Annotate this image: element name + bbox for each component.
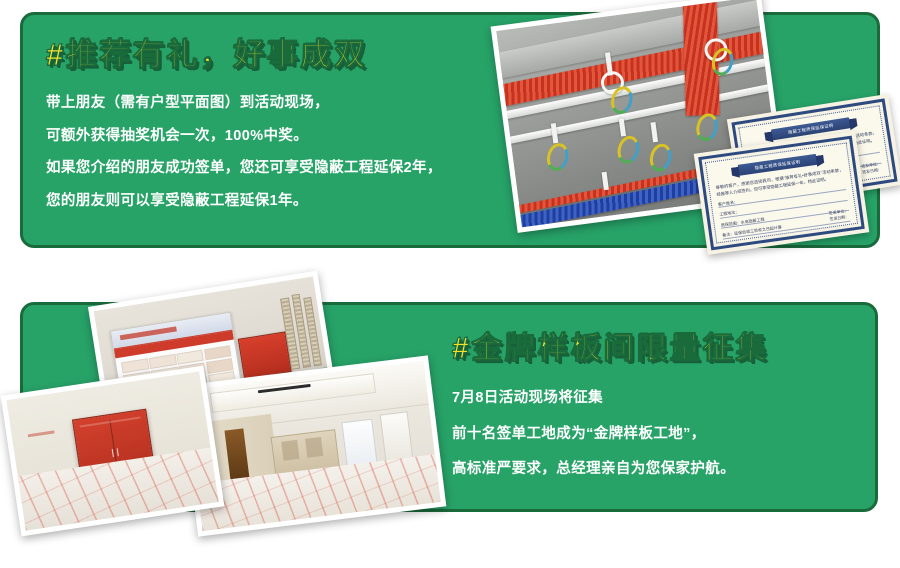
ceiling-recess (210, 373, 376, 413)
model-site-text-block: #金牌样板间限量征集 7月8日活动现场将征集 前十名签单工地成为“金牌样板工地”… (452, 332, 872, 477)
cabinet-handle-right (116, 448, 119, 457)
fire-cabinet-photo (1, 366, 225, 537)
referral-line-4: 您的朋友则可以享受隐蔽工程延保1年。 (46, 194, 516, 209)
referral-line-2: 可额外获得抽奖机会一次，100%中奖。 (46, 129, 516, 144)
cabinet-handle-left (111, 449, 114, 458)
certificate-frame-2: 隐蔽工程质保延保证明 尊敬的客户，感谢您选择我司，根据“推荐有礼•好事成双”活动… (698, 136, 865, 251)
certificate-date-2: 签发日期： (829, 214, 849, 223)
certificate-date-1: 签发日期： (862, 167, 882, 177)
certificate-body-2: 隐蔽工程质保延保证明 尊敬的客户，感谢您选择我司，根据“推荐有礼•好事成双”活动… (705, 142, 858, 243)
certificate-signature-2: 签发单位： 签发日期： (828, 208, 849, 224)
fire-cabinet-photo-inner (6, 371, 218, 530)
interior-room-photo (180, 355, 447, 536)
model-site-headline: #金牌样板间限量征集 (452, 332, 872, 365)
referral-text-block: #推荐有礼，好事成双 带上朋友（需有户型平面图）到活动现场， 可额外获得抽奖机会… (46, 38, 516, 208)
model-site-line-1: 7月8日活动现场将征集 (452, 391, 872, 406)
referral-line-3: 如果您介绍的朋友成功签单，您还可享受隐蔽工程延保2年， (46, 161, 516, 176)
certificate-title-2: 隐蔽工程质保延保证明 (754, 159, 800, 171)
referral-line-1: 带上朋友（需有户型平面图）到活动现场， (46, 96, 516, 111)
certificate-title-1: 隐蔽工程质保延保证明 (788, 122, 834, 135)
certificate-signature-1: 签发单位： 签发日期： (861, 161, 882, 177)
referral-headline: #推荐有礼，好事成双 (46, 38, 516, 72)
model-site-line-3: 高标准严要求，总经理亲自为您保家护航。 (452, 462, 872, 477)
model-site-line-2: 前十名签单工地成为“金牌样板工地”， (452, 427, 872, 442)
